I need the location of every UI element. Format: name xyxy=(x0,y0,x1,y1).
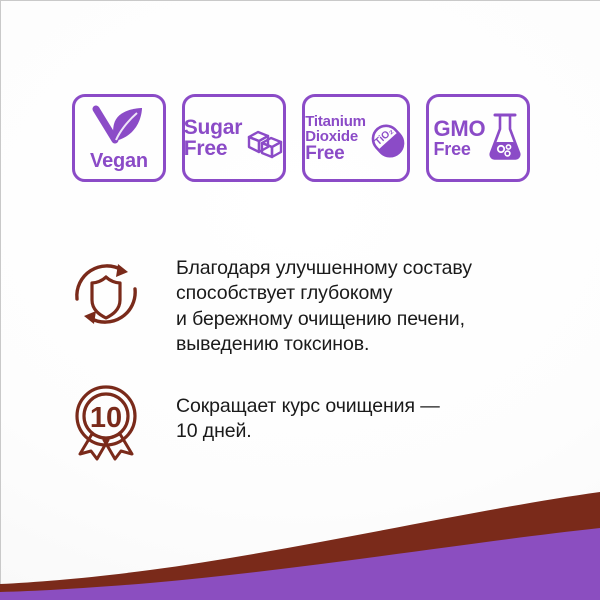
badge-vegan: Vegan xyxy=(72,94,166,182)
badge-sugar-line1: Sugar xyxy=(184,117,243,138)
badge-tio2-line1: Titanium xyxy=(305,114,366,129)
badge-gmo-line1: GMO xyxy=(434,118,486,140)
badge-tio2-line3: Free xyxy=(305,144,344,163)
badge-gmo-line2: Free xyxy=(434,140,471,158)
sugar-cubes-icon xyxy=(246,125,284,164)
badge-vegan-label: Vegan xyxy=(90,151,148,171)
badge-gmo-free: GMO Free xyxy=(426,94,530,182)
badge-sugar-free: Sugar Free xyxy=(182,94,286,182)
top-edge-line xyxy=(0,0,600,1)
badge-tio2-line2: Dioxide xyxy=(305,129,358,144)
medal-number: 10 xyxy=(90,402,122,434)
badge-sugar-line2: Free xyxy=(184,138,228,159)
shield-cycle-icon xyxy=(64,252,148,336)
badge-titanium-dioxide-free: Titanium Dioxide Free TiO₂ xyxy=(302,94,410,182)
feature-course-duration-text: Сокращает курс очищения — 10 дней. xyxy=(176,378,440,445)
medal-10-icon: 10 xyxy=(64,378,148,462)
feature-course-duration: 10 Сокращает курс очищения — 10 дней. xyxy=(64,378,440,462)
feature-liver-cleansing: Благодаря улучшенному составу способству… xyxy=(64,252,472,357)
flask-icon xyxy=(488,111,522,166)
feature-liver-cleansing-text: Благодаря улучшенному составу способству… xyxy=(176,252,472,357)
capsule-icon: TiO₂ xyxy=(369,121,407,166)
promo-banner: Vegan Sugar Free xyxy=(0,0,600,600)
bottom-wave-decoration xyxy=(0,470,600,600)
leaf-check-icon xyxy=(92,105,146,150)
certification-badge-row: Vegan Sugar Free xyxy=(72,94,530,182)
